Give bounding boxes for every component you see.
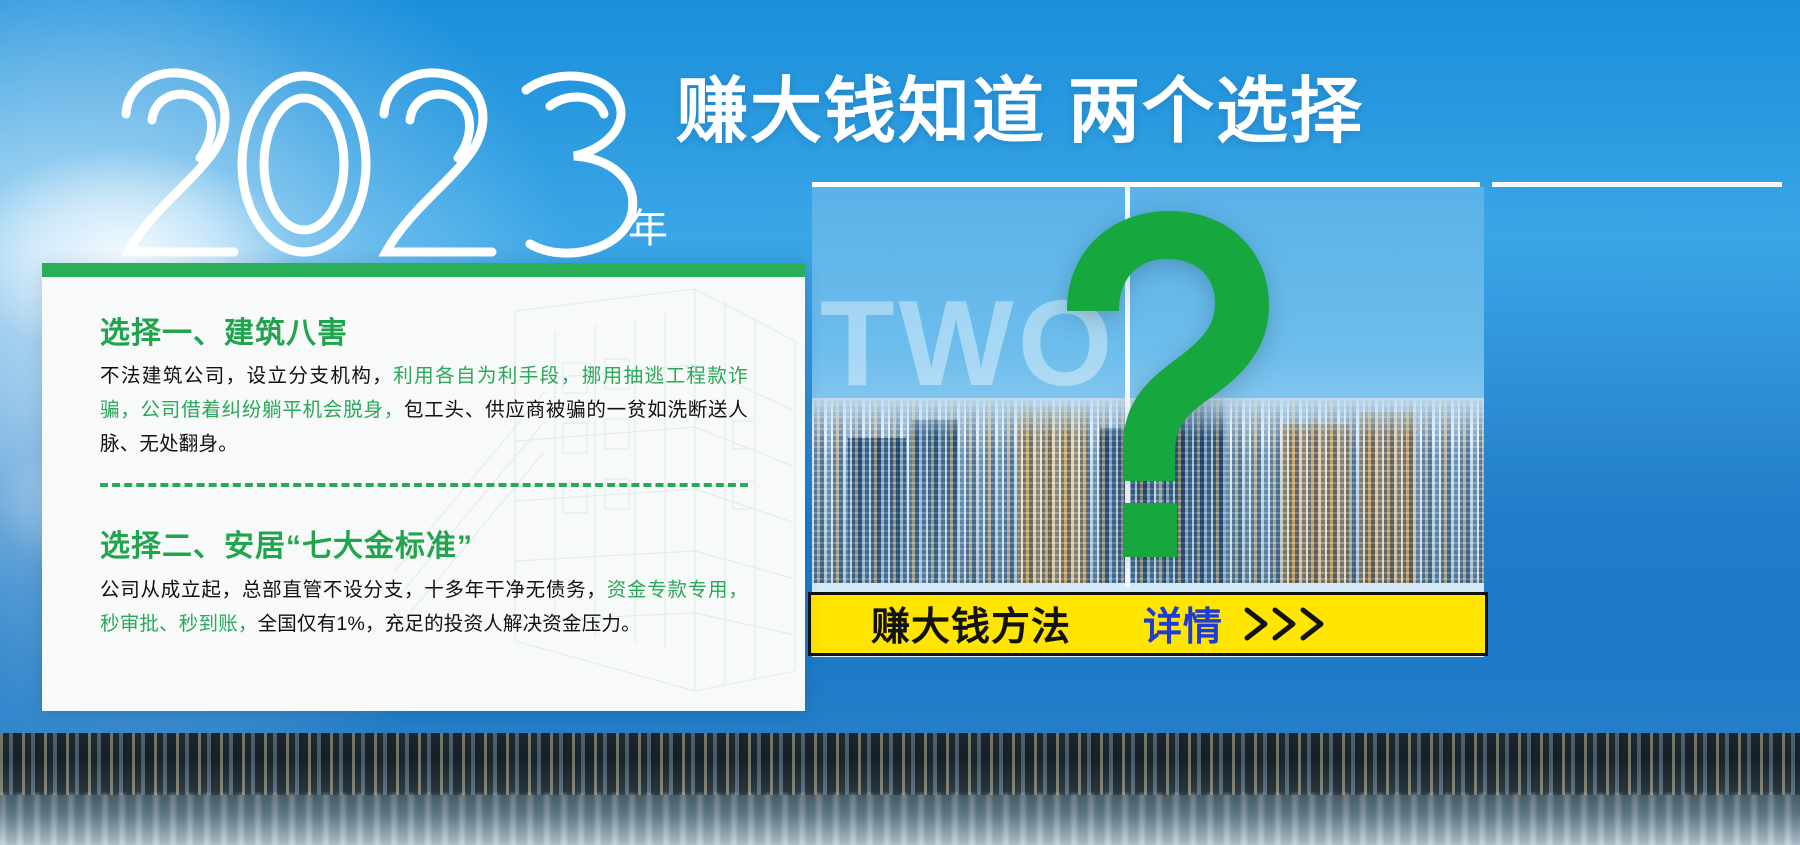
section-divider xyxy=(100,483,748,487)
chevron-right-triple-icon xyxy=(1241,604,1337,644)
page-title: 赚大钱知道 两个选择 xyxy=(676,76,1364,148)
poster-stage: 年 赚大钱知道 两个选择 TWOCHOICES xyxy=(0,0,1800,845)
cta-banner[interactable]: 赚大钱方法 详情 xyxy=(808,592,1488,656)
cta-main-label: 赚大钱方法 xyxy=(871,596,1071,652)
section-1-run-1: 不法建筑公司，设立分支机构， xyxy=(100,365,393,387)
section-2-run-1: 公司从成立起，总部直管不设分支，十多年干净无债务， xyxy=(100,579,607,601)
question-mark-icon xyxy=(1037,199,1287,599)
bottom-water-reflection xyxy=(0,793,1800,845)
content-card: 选择一、建筑八害 不法建筑公司，设立分支机构，利用各自为利手段，挪用抽逃工程款诈… xyxy=(42,263,805,711)
section-2-run-3: 全国仅有1%，充足的投资人解决资金压力。 xyxy=(258,613,641,635)
section-1-body: 不法建筑公司，设立分支机构，利用各自为利手段，挪用抽逃工程款诈骗，公司借着纠纷躺… xyxy=(100,359,748,461)
section-1-title: 选择一、建筑八害 xyxy=(100,308,348,352)
right-visual-panel: TWOCHOICES xyxy=(812,187,1484,657)
bottom-buildings xyxy=(0,733,1800,795)
card-accent-bar xyxy=(42,263,805,277)
headline-underline-right xyxy=(1492,182,1782,187)
cta-detail-link[interactable]: 详情 xyxy=(1143,596,1223,652)
section-2-title: 选择二、安居“七大金标准” xyxy=(100,521,473,565)
year-suffix-label: 年 xyxy=(628,196,668,254)
bottom-city-strip xyxy=(0,733,1800,845)
section-2-body: 公司从成立起，总部直管不设分支，十多年干净无债务，资金专款专用，秒审批、秒到账，… xyxy=(100,573,748,641)
